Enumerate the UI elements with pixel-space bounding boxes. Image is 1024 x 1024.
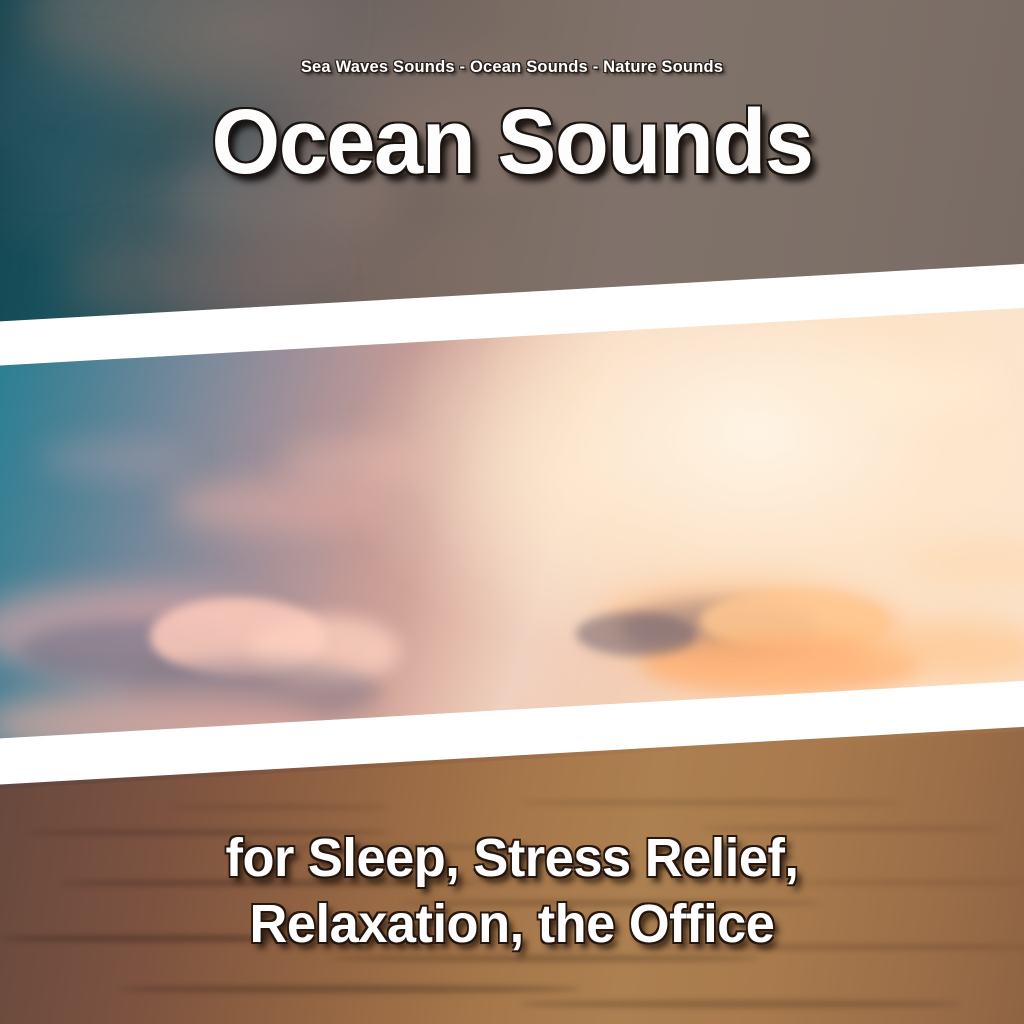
album-cover: Sea Waves Sounds - Ocean Sounds - Nature…	[0, 0, 1024, 1024]
ripple	[0, 760, 1024, 1024]
cloud	[760, 360, 1000, 420]
cloud	[40, 440, 190, 478]
cloud	[576, 612, 696, 656]
cloud-wisp	[170, 150, 400, 240]
cloud	[170, 480, 390, 532]
cloud	[280, 440, 440, 484]
cloud	[900, 540, 1024, 590]
